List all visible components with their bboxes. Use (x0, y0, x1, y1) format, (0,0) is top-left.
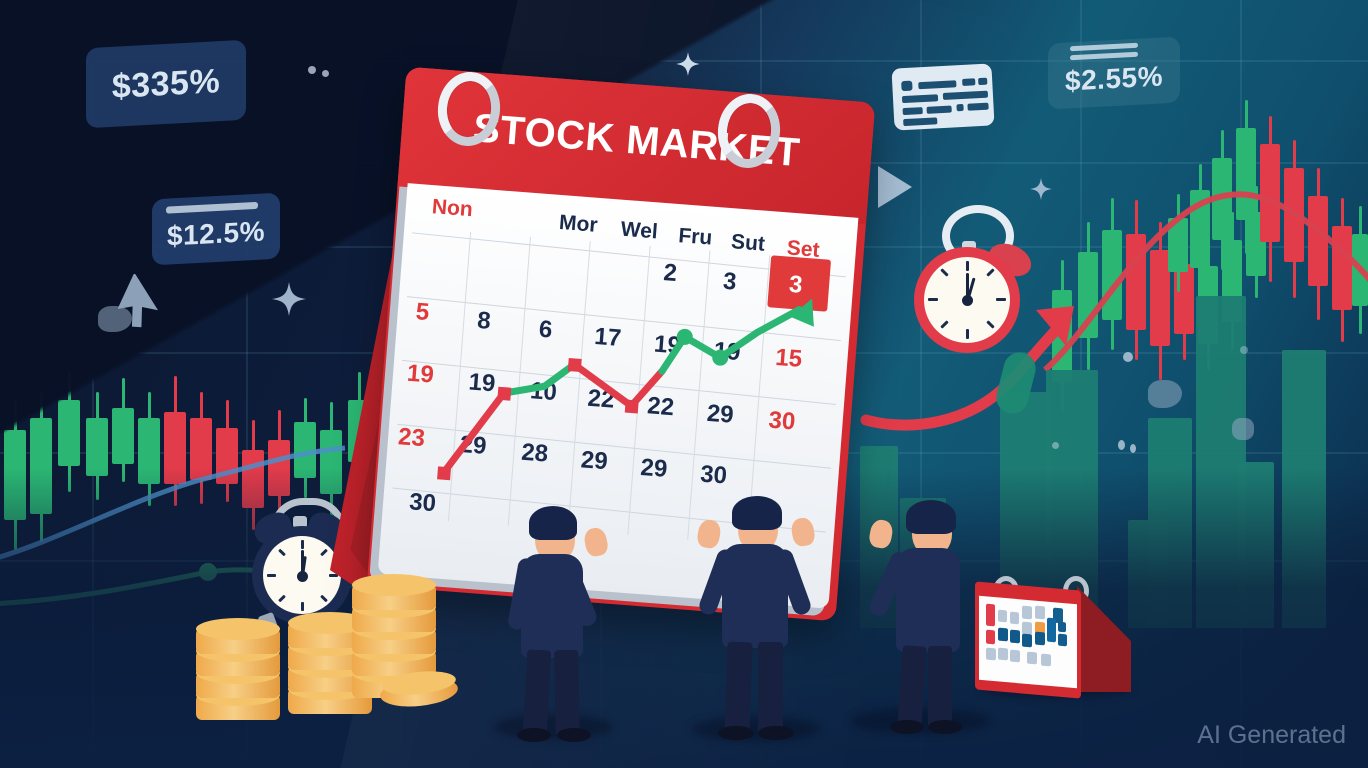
dot-decor-5 (1118, 440, 1125, 450)
dot-decor-1 (308, 66, 316, 74)
coin-top (196, 618, 280, 640)
dot-decor-6 (1130, 444, 1136, 453)
dot-decor-3 (1123, 352, 1133, 362)
sparkle-icon-2 (676, 52, 700, 76)
person-center (700, 492, 820, 768)
price-chip-335-label: $335% (112, 62, 220, 107)
dot-decor-7 (1052, 442, 1059, 449)
price-chip-255-label: $2.55% (1065, 60, 1163, 97)
play-icon[interactable] (878, 166, 912, 208)
red-arrow-icon (860, 300, 1090, 440)
price-chip-125[interactable]: $12.5% (152, 193, 280, 266)
document-icon (891, 63, 994, 130)
sparkle-icon-1 (272, 282, 306, 316)
person-left (505, 500, 615, 768)
sparkle-icon-3 (1030, 178, 1052, 200)
dot-decor-2 (322, 70, 329, 77)
watermark-label: AI Generated (1197, 721, 1346, 750)
price-chip-125-label: $12.5% (167, 215, 265, 252)
coin-top (352, 574, 436, 596)
price-chip-335[interactable]: $335% (86, 40, 246, 128)
price-chip-255[interactable]: $2.55% (1048, 37, 1180, 110)
illustration-canvas: $335% $12.5% $2.55% (0, 0, 1368, 768)
blob-decor-3 (1232, 418, 1254, 440)
desk-calendar-icon (965, 566, 1140, 696)
dot-decor-4 (1240, 346, 1248, 354)
